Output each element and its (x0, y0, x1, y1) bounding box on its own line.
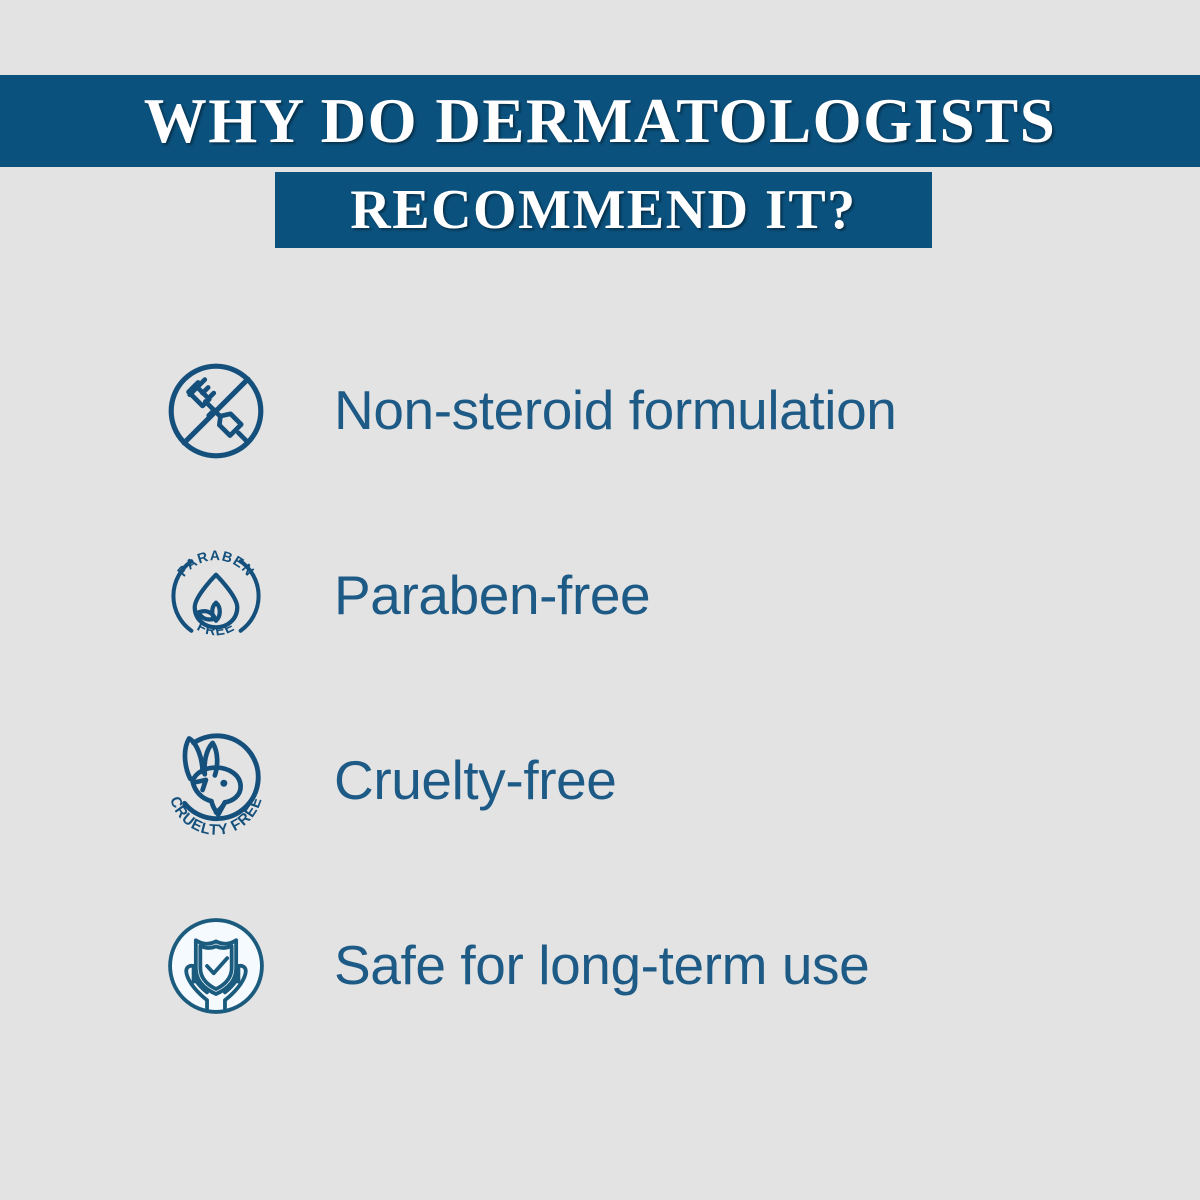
shield-in-hands-icon (160, 910, 272, 1022)
promo-panel: WHY DO DERMATOLOGISTS RECOMMEND IT? (0, 0, 1200, 1200)
header-title-line-1: WHY DO DERMATOLOGISTS (0, 75, 1200, 167)
header-band-secondary: RECOMMEND IT? (275, 172, 932, 248)
feature-label: Non-steroid formulation (334, 383, 896, 438)
cruelty-free-badge-text: CRUELTY FREE (166, 794, 266, 837)
cruelty-free-rabbit-icon: CRUELTY FREE (160, 725, 272, 837)
list-item: Safe for long-term use (0, 873, 1200, 1058)
header-band-primary: WHY DO DERMATOLOGISTS (0, 75, 1200, 167)
paraben-free-badge-icon: PARABEN FREE (160, 540, 272, 652)
feature-label: Safe for long-term use (334, 938, 869, 993)
feature-list: Non-steroid formulation (0, 318, 1200, 1058)
feature-label: Cruelty-free (334, 753, 617, 808)
list-item: Non-steroid formulation (0, 318, 1200, 503)
header-title-line-2: RECOMMEND IT? (275, 172, 932, 248)
list-item: CRUELTY FREE Cruelty-free (0, 688, 1200, 873)
svg-text:CRUELTY FREE: CRUELTY FREE (166, 794, 266, 837)
no-syringe-icon (160, 355, 272, 467)
list-item: PARABEN FREE Paraben-free (0, 503, 1200, 688)
feature-label: Paraben-free (334, 568, 650, 623)
